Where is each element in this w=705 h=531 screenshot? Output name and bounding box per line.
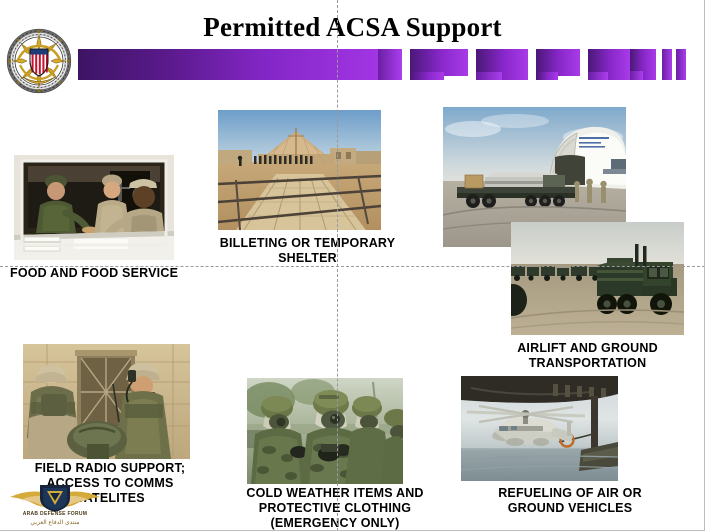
- caption-clothing-line3: (EMERGENCY ONLY): [225, 516, 445, 531]
- forum-name: ARAB DEFENSE FORUM: [6, 511, 104, 517]
- forum-name-arabic: منتدى الدفاع العربي: [6, 519, 104, 526]
- caption-airlift-transportation: AIRLIFT AND GROUND TRANSPORTATION: [470, 341, 705, 371]
- photo-truck-convoy: [511, 222, 684, 335]
- slide-canvas: Permitted ACSA Support: [0, 0, 705, 531]
- caption-billeting-line2: SHELTER: [205, 251, 410, 266]
- caption-clothing-line2: PROTECTIVE CLOTHING: [225, 501, 445, 516]
- caption-billeting-line1: BILLETING OR TEMPORARY: [205, 236, 410, 251]
- caption-billeting: BILLETING OR TEMPORARY SHELTER: [205, 236, 410, 266]
- powerpoint-horizontal-guide: [0, 266, 705, 267]
- caption-radio-line1: FIELD RADIO SUPPORT;: [10, 461, 210, 476]
- photo-billeting-tent: [218, 110, 381, 230]
- photo-protective-clothing: [247, 378, 403, 484]
- caption-refueling-line2: GROUND VEHICLES: [455, 501, 685, 516]
- purple-gradient-banner: [78, 49, 690, 80]
- caption-refueling-line1: REFUELING OF AIR OR: [455, 486, 685, 501]
- caption-protective-clothing: COLD WEATHER ITEMS AND PROTECTIVE CLOTHI…: [225, 486, 445, 531]
- caption-refueling: REFUELING OF AIR OR GROUND VEHICLES: [455, 486, 685, 516]
- caption-airlift-line2: TRANSPORTATION: [470, 356, 705, 371]
- photo-field-radio: [23, 344, 190, 459]
- arab-defense-forum-logo: ARAB DEFENSE FORUM منتدى الدفاع العربي: [6, 483, 104, 529]
- caption-airlift-line1: AIRLIFT AND GROUND: [470, 341, 705, 356]
- slide-title: Permitted ACSA Support: [0, 11, 705, 43]
- caption-clothing-line1: COLD WEATHER ITEMS AND: [225, 486, 445, 501]
- caption-food-service: FOOD AND FOOD SERVICE: [10, 266, 250, 281]
- photo-food-service: [14, 155, 174, 260]
- photo-aerial-refueling: [461, 376, 618, 481]
